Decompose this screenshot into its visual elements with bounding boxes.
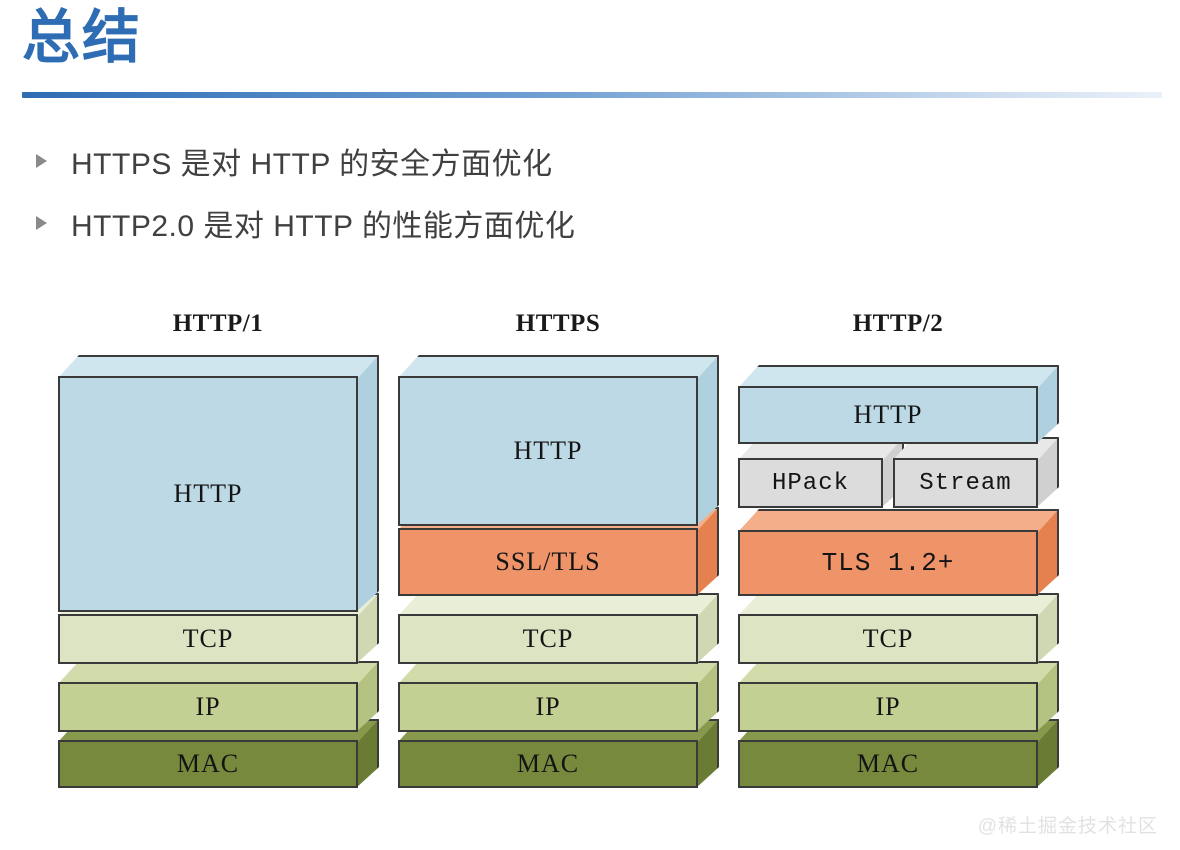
layer-tcp: TCP xyxy=(398,614,698,664)
layer-ssl-tls: SSL/TLS xyxy=(398,528,698,596)
layer-mac: MAC xyxy=(738,740,1038,788)
slab-top-face xyxy=(398,661,719,684)
slab-front-face: MAC xyxy=(58,740,358,788)
slab-front-face: HTTP xyxy=(738,386,1038,444)
layer-label: TCP xyxy=(183,624,234,654)
layer-label: IP xyxy=(195,692,220,722)
slab-front-face: IP xyxy=(58,682,358,732)
bullet-text: HTTP2.0 是对 HTTP 的性能方面优化 xyxy=(71,201,575,245)
slab-front-face: TCP xyxy=(58,614,358,664)
layer-label: MAC xyxy=(177,749,239,779)
layer-stream: Stream xyxy=(893,458,1038,508)
slab-top-face xyxy=(738,365,1059,388)
title-divider xyxy=(22,92,1162,98)
layer-mac: MAC xyxy=(58,740,358,788)
layer-http: HTTP xyxy=(58,376,358,612)
slab-front-face: IP xyxy=(398,682,698,732)
layer-http: HTTP xyxy=(398,376,698,526)
page-title: 总结 xyxy=(22,8,142,69)
stack-title-https: HTTPS xyxy=(398,310,718,338)
slab-front-face: IP xyxy=(738,682,1038,732)
layer-hpack: HPack xyxy=(738,458,883,508)
slab-top-face xyxy=(58,661,379,684)
bullet-text: HTTPS 是对 HTTP 的安全方面优化 xyxy=(71,139,553,183)
stack-https: HTTPS MAC IP TCP xyxy=(398,310,738,810)
layer-label: HTTP xyxy=(174,479,243,509)
layer-label: MAC xyxy=(517,749,579,779)
slab-front-face: Stream xyxy=(893,458,1038,508)
triangle-right-icon xyxy=(36,154,47,168)
stack-http1: HTTP/1 MAC IP TCP xyxy=(58,310,398,810)
layer-tls12: TLS 1.2+ xyxy=(738,530,1038,596)
layer-label: Stream xyxy=(919,470,1011,497)
layer-label: IP xyxy=(875,692,900,722)
slab-top-face xyxy=(738,509,1059,532)
layer-label: TCP xyxy=(863,624,914,654)
slab-front-face: TCP xyxy=(738,614,1038,664)
layer-label: HTTP xyxy=(514,436,583,466)
stack-title-http2: HTTP/2 xyxy=(738,310,1058,338)
layer-ip: IP xyxy=(738,682,1038,732)
stack-title-http1: HTTP/1 xyxy=(58,310,378,338)
bullet-list: HTTPS 是对 HTTP 的安全方面优化 HTTP2.0 是对 HTTP 的性… xyxy=(30,130,930,254)
layer-label: TCP xyxy=(523,624,574,654)
slab-right-face xyxy=(696,355,719,526)
layer-label: HPack xyxy=(772,470,849,497)
slide-root: 总结 HTTPS 是对 HTTP 的安全方面优化 HTTP2.0 是对 HTTP… xyxy=(0,0,1180,850)
protocol-stack-diagram: HTTP/1 MAC IP TCP xyxy=(0,310,1180,810)
layer-tcp: TCP xyxy=(58,614,358,664)
slab-front-face: TCP xyxy=(398,614,698,664)
slab-top-face xyxy=(398,355,719,378)
layer-ip: IP xyxy=(58,682,358,732)
layer-label: MAC xyxy=(857,749,919,779)
slab-front-face: HTTP xyxy=(58,376,358,612)
layer-label: SSL/TLS xyxy=(495,547,600,577)
watermark: @稀土掘金技术社区 xyxy=(978,811,1158,838)
layer-label: IP xyxy=(535,692,560,722)
layer-ip: IP xyxy=(398,682,698,732)
slab-front-face: TLS 1.2+ xyxy=(738,530,1038,596)
layer-http: HTTP xyxy=(738,386,1038,444)
layer-label: HTTP xyxy=(854,400,923,430)
layer-tcp: TCP xyxy=(738,614,1038,664)
slab-front-face: MAC xyxy=(398,740,698,788)
list-item: HTTP2.0 是对 HTTP 的性能方面优化 xyxy=(30,192,930,254)
list-item: HTTPS 是对 HTTP 的安全方面优化 xyxy=(30,130,930,192)
slab-front-face: MAC xyxy=(738,740,1038,788)
slab-front-face: HTTP xyxy=(398,376,698,526)
slab-top-face xyxy=(738,661,1059,684)
slab-right-face xyxy=(356,355,379,612)
slab-front-face: SSL/TLS xyxy=(398,528,698,596)
triangle-right-icon xyxy=(36,216,47,230)
layer-mac: MAC xyxy=(398,740,698,788)
stack-http2: HTTP/2 MAC IP TCP xyxy=(738,310,1078,810)
slab-top-face xyxy=(58,355,379,378)
slab-top-face xyxy=(398,593,719,616)
slab-front-face: HPack xyxy=(738,458,883,508)
layer-label: TLS 1.2+ xyxy=(822,548,955,578)
slab-top-face xyxy=(738,593,1059,616)
